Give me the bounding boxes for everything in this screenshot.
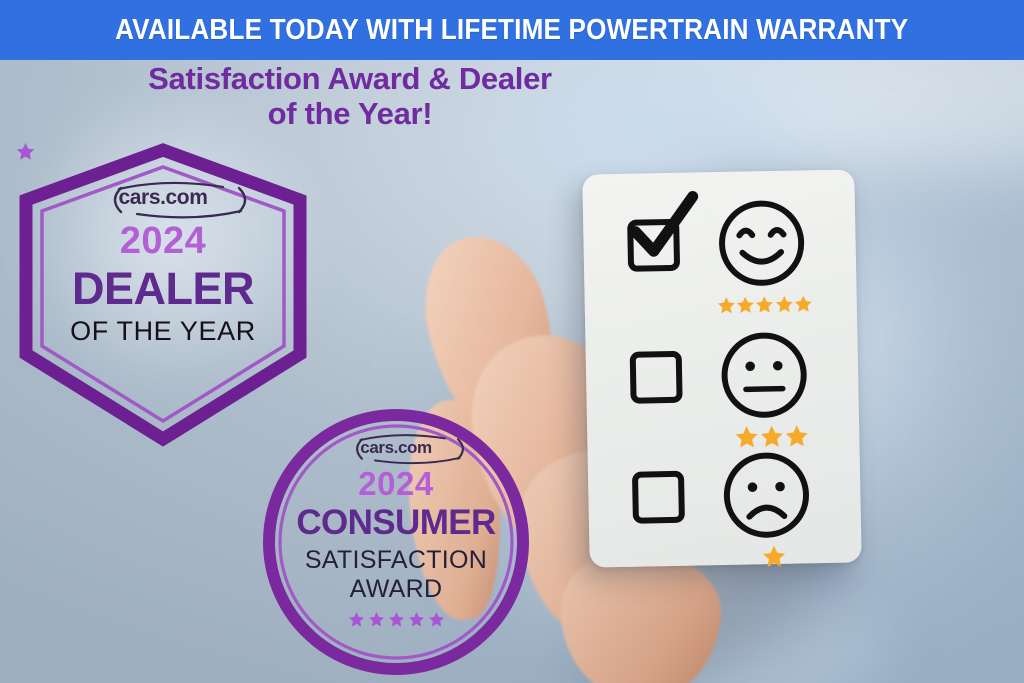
top-banner-text: AVAILABLE TODAY WITH LIFETIME POWERTRAIN… bbox=[115, 14, 908, 47]
cars-com-wordmark: cars.com bbox=[118, 186, 207, 209]
checkmark-icon bbox=[627, 190, 703, 271]
star-icon bbox=[368, 611, 385, 628]
badge-title: DEALER bbox=[72, 266, 254, 311]
star-icon bbox=[736, 292, 756, 317]
badge-subtitle-line2: AWARD bbox=[350, 575, 443, 603]
neutral-face-icon bbox=[717, 328, 811, 422]
star-icon bbox=[717, 292, 737, 317]
dealer-of-the-year-badge: cars.com 2024 DEALER OF THE YEAR bbox=[16, 142, 310, 447]
survey-card bbox=[582, 169, 861, 567]
cars-com-logo: cars.com bbox=[360, 438, 431, 458]
checkbox-unchecked[interactable] bbox=[632, 471, 685, 524]
happy-face-icon bbox=[715, 196, 809, 290]
star-icon bbox=[16, 142, 35, 161]
top-banner: AVAILABLE TODAY WITH LIFETIME POWERTRAIN… bbox=[0, 0, 1024, 60]
headline: Satisfaction Award & Dealer of the Year! bbox=[0, 62, 700, 131]
badge-year: 2024 bbox=[358, 467, 433, 500]
promo-banner-image: cars.com 2024 DEALER OF THE YEAR bbox=[0, 0, 1024, 683]
star-icon bbox=[755, 291, 775, 316]
consumer-satisfaction-award-badge: cars.com 2024 CONSUMER SATISFACTION AWAR… bbox=[262, 408, 530, 676]
headline-line-2: of the Year! bbox=[0, 97, 700, 132]
rating-stars-1 bbox=[725, 542, 821, 570]
cars-com-logo: cars.com bbox=[118, 186, 207, 210]
badge-stars bbox=[348, 611, 445, 628]
rating-stars-5 bbox=[717, 290, 813, 318]
survey-row-dissatisfied[interactable] bbox=[587, 441, 861, 577]
star-icon bbox=[761, 543, 786, 568]
badge-title: CONSUMER bbox=[296, 505, 495, 540]
star-icon bbox=[388, 611, 405, 628]
survey-rows bbox=[582, 169, 861, 567]
badge-subtitle: OF THE YEAR bbox=[70, 318, 256, 345]
star-icon bbox=[348, 611, 365, 628]
survey-row-very-satisfied[interactable] bbox=[583, 189, 857, 325]
star-icon bbox=[793, 291, 813, 316]
star-icon bbox=[408, 611, 425, 628]
cars-com-wordmark: cars.com bbox=[360, 438, 431, 457]
badge-subtitle-line1: SATISFACTION bbox=[305, 546, 487, 574]
star-icon bbox=[774, 291, 794, 316]
badge-year: 2024 bbox=[120, 222, 207, 260]
survey-row-neutral[interactable] bbox=[585, 321, 859, 457]
checkbox-unchecked[interactable] bbox=[630, 351, 683, 404]
sad-face-icon bbox=[720, 448, 814, 542]
headline-line-1: Satisfaction Award & Dealer bbox=[0, 62, 700, 97]
star-icon bbox=[428, 611, 445, 628]
